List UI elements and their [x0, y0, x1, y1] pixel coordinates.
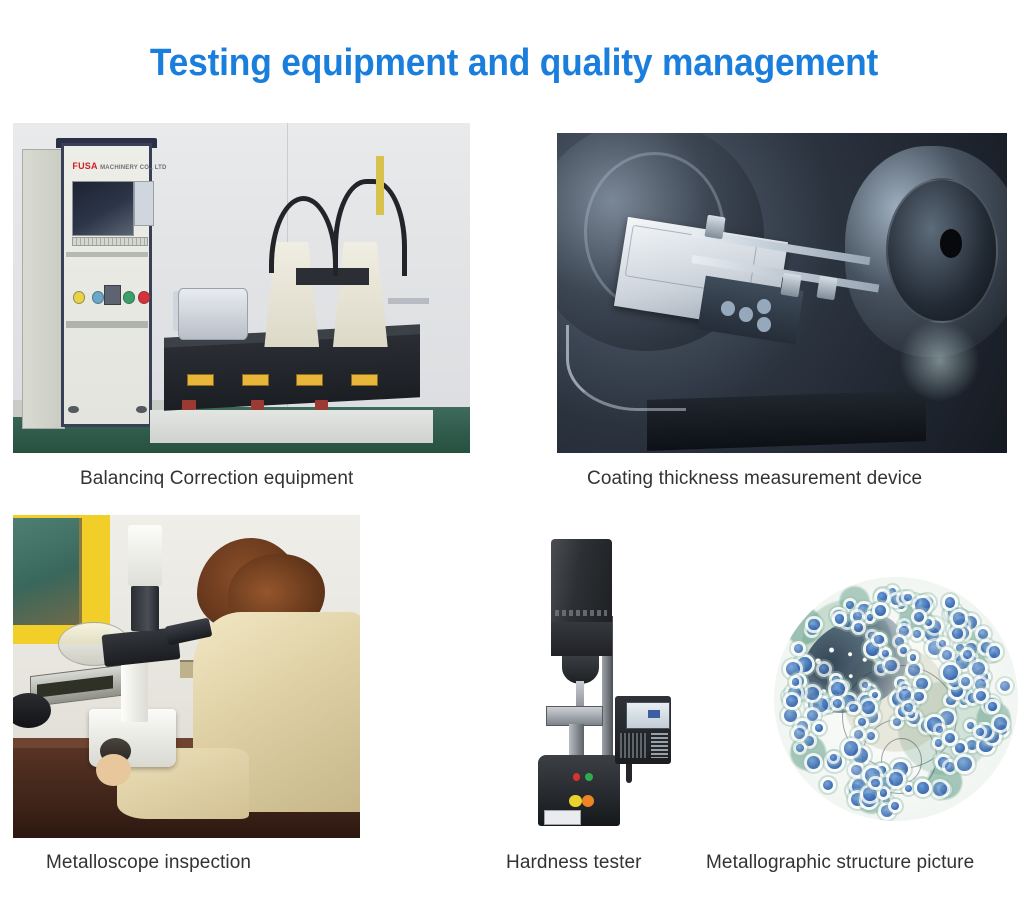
photo-balancing-correction-equipment: FUSA MACHINERY CO., LTD — [13, 123, 470, 453]
graphite-nodule — [936, 726, 943, 733]
machine-foot — [315, 400, 329, 410]
graphite-nodule — [946, 696, 955, 705]
graphite-nodule — [957, 757, 971, 771]
graphite-nodule — [904, 594, 912, 602]
graphite-nodule — [794, 644, 803, 653]
photo-hardness-tester — [516, 530, 673, 838]
graphite-nodule — [976, 728, 984, 736]
caption-metallographic-structure-picture: Metallographic structure picture — [706, 852, 974, 874]
graphite-nodule — [963, 650, 972, 659]
graphite-nodule — [915, 598, 930, 613]
balancing-machine-scene: FUSA MACHINERY CO., LTD — [13, 123, 470, 453]
page-title: Testing equipment and quality management — [36, 42, 992, 85]
graphite-nodule — [975, 679, 986, 690]
machine-foot — [251, 400, 265, 410]
warning-label — [296, 374, 323, 387]
drive-motor — [178, 288, 249, 340]
brand-subtitle: MACHINERY CO., LTD — [100, 165, 167, 171]
coolant-glint — [899, 319, 980, 402]
vertical-indicator-rod — [376, 156, 383, 215]
cabinet-switch-box — [104, 285, 121, 305]
machine-foot — [182, 400, 196, 410]
graphite-nodule — [877, 592, 888, 603]
graphite-nodule — [893, 718, 901, 726]
metalloscope-scene — [13, 515, 360, 838]
graphite-nodule — [976, 691, 986, 701]
control-panel-function-keys — [651, 733, 668, 758]
graphite-nodule — [804, 736, 814, 746]
photo-coating-thickness-measurement-device — [557, 133, 1007, 453]
clamp-nut — [704, 215, 725, 240]
graphite-nodule — [823, 780, 833, 790]
hardness-tester-scene — [516, 530, 673, 838]
graphite-nodule — [910, 654, 916, 660]
brand-name: FUSA — [72, 161, 97, 171]
graphite-nodule — [794, 728, 805, 739]
tester-brand-label — [555, 610, 607, 616]
graphite-nodule — [1000, 681, 1010, 691]
graphite-nodule — [786, 662, 801, 677]
graphite-nodule — [866, 642, 879, 655]
cabinet-display-screen — [72, 181, 133, 236]
graphite-nodule — [844, 741, 859, 756]
cabinet-button-red — [138, 291, 150, 304]
coating-gauge-scene — [557, 133, 1007, 453]
graphite-nodule — [851, 765, 862, 776]
graphite-nodule — [943, 665, 957, 679]
graphite-nodule — [880, 789, 888, 797]
clamp-nut — [816, 276, 837, 301]
machine-plinth — [150, 410, 433, 443]
warning-label — [351, 374, 378, 387]
clamp-nut — [780, 273, 801, 298]
slide-root: Testing equipment and quality management… — [0, 0, 1028, 921]
graphite-nodule — [904, 703, 913, 712]
chuck-bore — [940, 229, 963, 258]
control-panel-readout — [648, 710, 661, 717]
micrograph-circle — [774, 577, 1018, 821]
graphite-nodule — [900, 647, 907, 654]
caption-coating-thickness-measurement-device: Coating thickness measurement device — [587, 468, 922, 490]
graphite-nodule — [819, 664, 829, 674]
gauge-indicator-dot — [721, 301, 735, 316]
microscope-camera-tube — [131, 586, 159, 631]
graphite-nodule — [877, 664, 885, 672]
graphite-nodule — [849, 704, 857, 712]
graphite-nodule — [945, 597, 956, 608]
graphite-nodule — [956, 644, 964, 652]
graphite-nodule — [885, 660, 897, 672]
graphite-nodule — [989, 646, 1000, 657]
graphite-nodule — [917, 782, 929, 794]
graphite-nodule — [815, 724, 823, 732]
cabinet-side-panel — [22, 149, 65, 428]
cabinet-lower-band — [66, 321, 148, 328]
workpiece-spindle — [388, 298, 429, 305]
graphite-nodule — [978, 629, 988, 639]
photo-metalloscope-inspection — [13, 515, 360, 838]
graphite-nodule — [933, 782, 947, 796]
photo-metallographic-structure-picture — [774, 577, 1018, 821]
caption-hardness-tester: Hardness tester — [506, 852, 642, 874]
technician-hand — [96, 754, 131, 786]
graphite-nodule — [994, 717, 1007, 730]
tester-anvil — [546, 706, 603, 726]
control-panel-keypad — [620, 733, 647, 758]
graphite-nodule — [899, 626, 909, 636]
graphite-nodule — [914, 692, 924, 702]
graphite-nodule — [813, 698, 827, 712]
graphite-nodule — [882, 650, 889, 657]
graphite-nodule — [854, 623, 863, 632]
graphite-nodule — [952, 628, 963, 639]
warning-label — [187, 374, 214, 387]
cabinet-caster-left — [68, 406, 79, 414]
cabinet-panel-band — [66, 252, 148, 257]
gauge-indicator-dot — [757, 317, 771, 332]
caption-metalloscope-inspection: Metalloscope inspection — [46, 852, 251, 874]
graphite-nodule — [905, 785, 913, 793]
tester-base-plate — [544, 810, 581, 824]
machine-slide — [647, 391, 926, 452]
cabinet-keypad — [134, 181, 154, 226]
control-knob-yellow — [569, 795, 582, 807]
cabinet-button-green — [123, 291, 135, 304]
graphite-nodule — [808, 619, 820, 631]
cabinet-button-blue — [92, 291, 104, 304]
graphite-nodule — [786, 695, 798, 707]
graphite-nodule — [967, 740, 977, 750]
window-glass — [13, 518, 82, 625]
graphite-nodule — [988, 702, 997, 711]
control-panel-stem — [626, 764, 632, 782]
warning-label — [242, 374, 269, 387]
tester-head-shade — [551, 622, 612, 656]
graphite-nodule — [883, 797, 890, 804]
graphite-nodule — [863, 787, 877, 801]
cabinet-brand-label: FUSA MACHINERY CO., LTD — [72, 161, 145, 171]
microscope-camera-body — [128, 525, 163, 586]
graphite-nodule — [955, 743, 965, 753]
tester-indenter — [576, 681, 584, 709]
graphite-nodule — [889, 588, 896, 595]
graphite-nodule — [953, 612, 965, 624]
graphite-nodule — [862, 701, 874, 713]
caption-balancing-correction-equipment: Balancinq Correction equipment — [80, 468, 353, 490]
cabinet-key-row — [72, 237, 147, 246]
graphite-nodule — [835, 614, 844, 623]
